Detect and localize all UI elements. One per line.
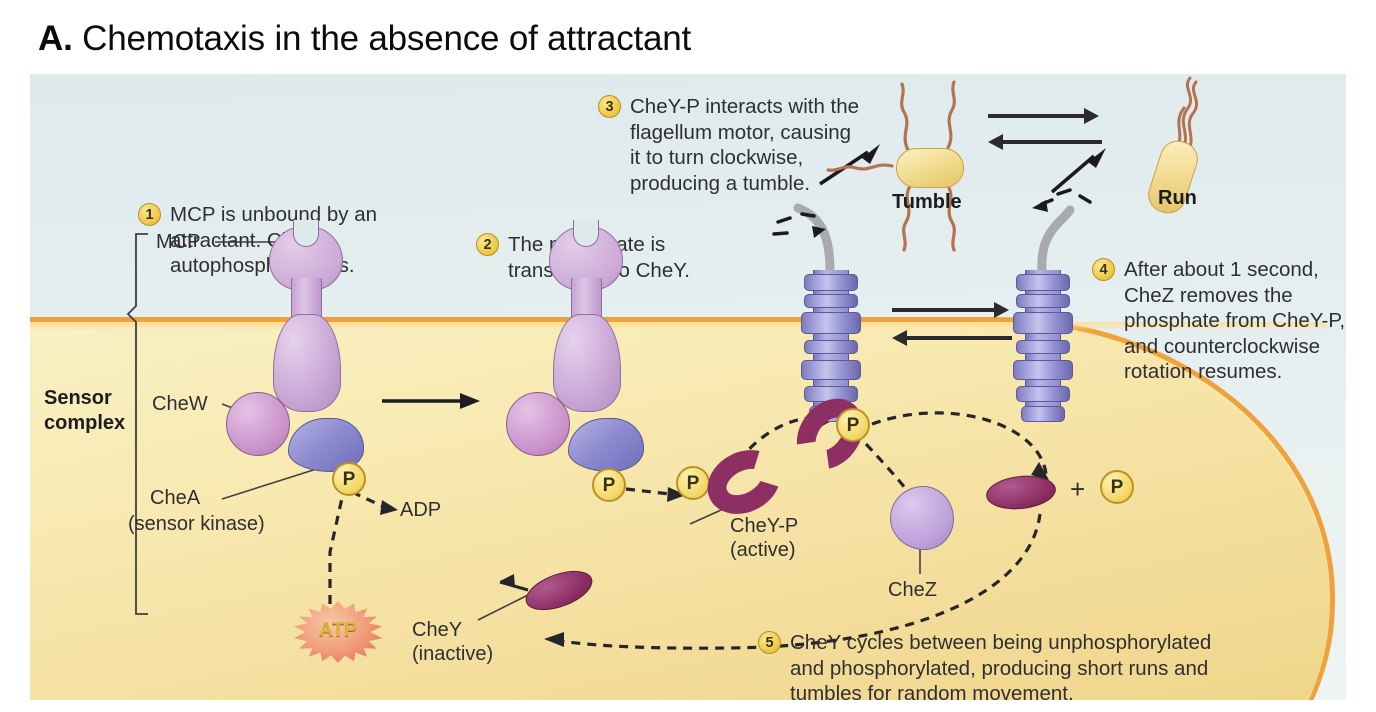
phosphate-circle-icon-5: P (1100, 470, 1134, 504)
mcp-binding-notch-2 (573, 220, 599, 247)
sensor-complex-label: Sensor complex (44, 386, 125, 436)
mcp-label: MCP (156, 230, 200, 254)
chew-label: CheW (152, 392, 208, 416)
mcp-binding-notch (293, 220, 319, 247)
motor-ring-r-7 (1021, 406, 1065, 422)
motor-ring-r-4 (1016, 340, 1070, 354)
motor-eq-arrow-left-head (892, 330, 907, 346)
step-5-number: 5 (758, 631, 781, 654)
atp-burst-icon: ATP (294, 601, 382, 663)
step-5-line-2: and phosphorylated, producing short runs… (790, 656, 1211, 682)
motor-ring-l-1 (804, 274, 858, 291)
sensor-complex-label-line-1: Sensor (44, 386, 125, 411)
figure-page: A. Chemotaxis in the absence of attracta… (0, 0, 1376, 712)
motor-eq-arrow-right-line (892, 308, 998, 312)
atp-label: ATP (294, 619, 382, 642)
run-label: Run (1158, 186, 1197, 210)
step-3-line-4: producing a tumble. (630, 171, 859, 197)
step-4-number: 4 (1092, 258, 1115, 281)
phosphate-circle-icon-1: P (332, 462, 366, 496)
motor-ring-l-4 (804, 340, 858, 354)
step-5-text: 5 CheY cycles between being unphosphoryl… (790, 630, 1211, 700)
chey-p-active-icon (706, 452, 782, 512)
step-3-line-2: flagellum motor, causing (630, 120, 859, 146)
bacteria-eq-arrow-left-line (1002, 140, 1102, 144)
adp-label: ADP (400, 498, 441, 522)
bacteria-eq-arrow-left-head (988, 134, 1003, 150)
chey-p-sublabel: (active) (730, 538, 796, 562)
page-title: A. Chemotaxis in the absence of attracta… (38, 17, 691, 61)
motor-ring-r-2 (1016, 294, 1070, 308)
phosphate-circle-icon-2: P (592, 468, 626, 502)
motor-ring-l-3 (801, 312, 861, 334)
plus-sign-label: + (1070, 474, 1085, 505)
motor-ring-r-1 (1016, 274, 1070, 291)
step-3-line-1: CheY-P interacts with the (630, 94, 859, 120)
chey-label: CheY (412, 618, 462, 642)
bacteria-eq-arrow-right-head (1084, 108, 1099, 124)
step-3-line-3: it to turn clockwise, (630, 145, 859, 171)
phosphate-circle-icon-4: P (836, 408, 870, 442)
sensor-complex-label-line-2: complex (44, 411, 125, 436)
motor-eq-arrow-left-line (906, 336, 1012, 340)
step-5-line-3: tumbles for random movement. (790, 681, 1211, 700)
step-4-line-4: and counterclockwise (1124, 334, 1345, 360)
diagram-panel: 1 MCP is unbound by an attractant. CheA … (30, 74, 1346, 700)
step-4-line-5: rotation resumes. (1124, 359, 1345, 385)
step-4-line-1: After about 1 second, (1124, 257, 1345, 283)
motor-eq-arrow-right-head (994, 302, 1009, 318)
motor-ring-l-2 (804, 294, 858, 308)
chea-kinase-icon-2 (568, 418, 644, 472)
chey-sublabel: (inactive) (412, 642, 493, 666)
motor-ring-r-5 (1013, 360, 1073, 380)
mcp-receptor-icon-2 (542, 226, 628, 411)
mcp-receptor-icon (262, 226, 348, 411)
phosphate-circle-icon-3: P (676, 466, 710, 500)
motor-ring-l-5 (801, 360, 861, 380)
step-4-line-3: phosphate from CheY-P, (1124, 308, 1345, 334)
step-5-line-1: CheY cycles between being unphosphorylat… (790, 630, 1211, 656)
mcp-body-2 (553, 314, 621, 412)
step-1-number: 1 (138, 203, 161, 226)
mcp-body (273, 314, 341, 412)
motor-ring-r-3 (1013, 312, 1073, 334)
bacterium-tumble-icon (896, 148, 964, 188)
step-1-line-1: MCP is unbound by an (170, 202, 377, 228)
motor-ring-r-6 (1016, 386, 1070, 402)
chea-label: CheA (150, 486, 200, 510)
chew-sphere-icon-2 (506, 392, 570, 456)
chez-blob-icon (890, 486, 954, 550)
chez-label: CheZ (888, 578, 937, 602)
chew-sphere-icon (226, 392, 290, 456)
chea-sublabel: (sensor kinase) (128, 512, 265, 536)
page-title-text: Chemotaxis in the absence of attractant (73, 19, 691, 58)
tumble-label: Tumble (892, 190, 962, 214)
step-2-number: 2 (476, 233, 499, 256)
flagellar-motor-icon-right (1016, 270, 1070, 420)
page-title-letter: A. (38, 19, 73, 58)
step-4-line-2: CheZ removes the (1124, 283, 1345, 309)
bacteria-eq-arrow-right-line (988, 114, 1088, 118)
chey-p-label: CheY-P (730, 514, 798, 538)
step-4-text: 4 After about 1 second, CheZ removes the… (1124, 257, 1345, 385)
step-3-text: 3 CheY-P interacts with the flagellum mo… (630, 94, 859, 196)
step-3-number: 3 (598, 95, 621, 118)
